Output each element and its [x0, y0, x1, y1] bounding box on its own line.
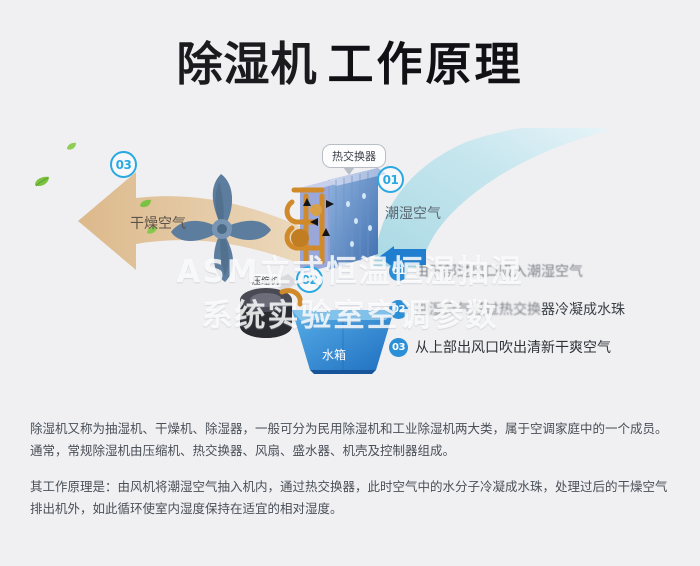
leaf-icon [139, 199, 152, 210]
page-title: 除湿机工作原理 [0, 28, 700, 94]
body-paragraph-2: 其工作原理是：由风机将潮湿空气抽入机内，通过热交换器，此时空气中的水分子冷凝成水… [30, 476, 675, 520]
step-list: 01 由下部进风口吸入潮湿空气 02 潮湿空气经过热交换器冷凝成水珠 03 从上… [389, 252, 679, 366]
leaf-icon [34, 176, 50, 189]
title-part-2: 工作原理 [328, 37, 524, 91]
body-copy: 除湿机又称为抽湿机、干燥机、除湿器，一般可分为民用除湿机和工业除湿机两大类，属于… [30, 418, 675, 520]
title-part-1: 除湿机 [177, 37, 318, 91]
step-badge-02: 02 [296, 266, 323, 293]
step-text-obscured: 潮湿空气经过热交换 [415, 302, 541, 318]
step-number: 03 [389, 338, 408, 357]
label-humid-air: 潮湿空气 [385, 203, 441, 223]
step-text: 由下部进风口吸入潮湿空气 [415, 261, 583, 281]
step-badge-03: 03 [110, 151, 137, 178]
label-water-tank: 水箱 [322, 346, 346, 363]
step-text: 潮湿空气经过热交换器冷凝成水珠 [415, 299, 625, 319]
step-number: 01 [389, 262, 408, 281]
step-item: 02 潮湿空气经过热交换器冷凝成水珠 [389, 290, 679, 328]
body-paragraph-1: 除湿机又称为抽湿机、干燥机、除湿器，一般可分为民用除湿机和工业除湿机两大类，属于… [30, 418, 675, 462]
leaf-icon [66, 142, 77, 152]
step-badge-01: 01 [377, 166, 404, 193]
label-dry-air: 干燥空气 [130, 213, 186, 233]
dehumidifier-infographic: 除湿机工作原理 [0, 0, 700, 566]
step-text: 从上部出风口吹出清新干爽空气 [415, 337, 611, 357]
step-number: 02 [389, 300, 408, 319]
step-item: 01 由下部进风口吸入潮湿空气 [389, 252, 679, 290]
heat-exchanger-callout: 热交换器 [322, 144, 386, 168]
step-text-visible: 器冷凝成水珠 [541, 302, 625, 318]
label-compressor: 压缩机 [250, 274, 281, 287]
step-item: 03 从上部出风口吹出清新干爽空气 [389, 328, 679, 366]
water-tank-illustration [288, 304, 398, 376]
